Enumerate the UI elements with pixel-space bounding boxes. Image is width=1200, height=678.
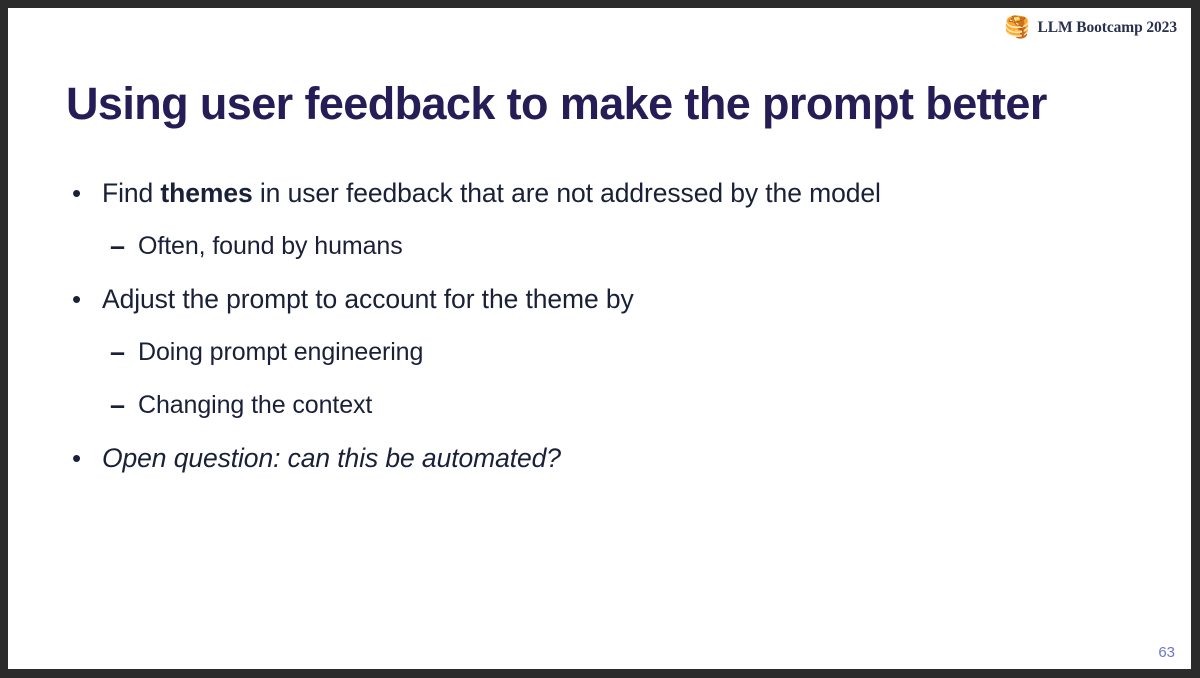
list-item-text-after: in user feedback that are not addressed … <box>253 178 881 208</box>
bullet-dot-icon: • <box>72 441 102 475</box>
brand-header: 🥞 LLM Bootcamp 2023 <box>1004 17 1177 38</box>
slide-frame: 🥞 LLM Bootcamp 2023 Using user feedback … <box>0 0 1200 678</box>
list-item-label: Changing the context <box>138 388 372 422</box>
list-item: – Doing prompt engineering <box>66 335 1151 369</box>
page-number: 63 <box>1158 644 1175 661</box>
brand-label: LLM Bootcamp 2023 <box>1037 19 1177 37</box>
bullet-dash-icon: – <box>110 335 138 369</box>
list-item-label: Adjust the prompt to account for the the… <box>102 282 634 316</box>
page-title: Using user feedback to make the prompt b… <box>66 78 1047 130</box>
bullet-dot-icon: • <box>72 176 102 210</box>
list-item: • Find themes in user feedback that are … <box>66 176 1151 210</box>
bullet-dash-icon: – <box>110 229 138 263</box>
slide-canvas: 🥞 LLM Bootcamp 2023 Using user feedback … <box>8 8 1191 669</box>
list-item-label: Often, found by humans <box>138 229 403 263</box>
bullet-list: • Find themes in user feedback that are … <box>66 176 1151 494</box>
list-item: – Often, found by humans <box>66 229 1151 263</box>
pancakes-icon: 🥞 <box>1004 17 1030 38</box>
list-item-label: Find themes in user feedback that are no… <box>102 176 881 210</box>
bullet-dot-icon: • <box>72 282 102 316</box>
list-item-label: Open question: can this be automated? <box>102 441 561 475</box>
list-item-text-before: Find <box>102 178 160 208</box>
list-item: • Open question: can this be automated? <box>66 441 1151 475</box>
list-item: • Adjust the prompt to account for the t… <box>66 282 1151 316</box>
list-item-text-bold: themes <box>160 178 252 208</box>
list-item: – Changing the context <box>66 388 1151 422</box>
list-item-label: Doing prompt engineering <box>138 335 423 369</box>
bullet-dash-icon: – <box>110 388 138 422</box>
